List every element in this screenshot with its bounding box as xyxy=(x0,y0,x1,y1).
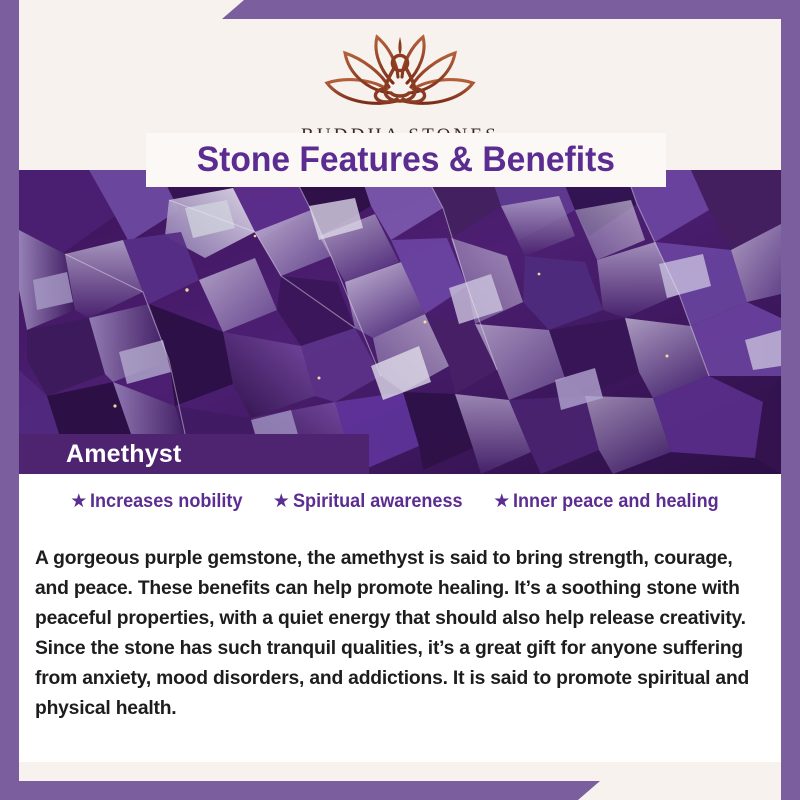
lotus-meditation-figure-icon xyxy=(311,27,489,123)
stone-info-card: BUDDHA STONES xyxy=(0,0,800,800)
brand-logo: BUDDHA STONES xyxy=(301,27,499,147)
stone-hero-image: Amethyst xyxy=(19,170,781,474)
frame-border-top xyxy=(222,0,800,19)
stone-name-label: Amethyst xyxy=(19,440,182,469)
benefit-item-1: ★ Spiritual awareness xyxy=(273,491,472,513)
stone-name-banner: Amethyst xyxy=(19,434,369,474)
section-title-band: Stone Features & Benefits xyxy=(146,133,666,187)
amethyst-crystal-texture xyxy=(19,170,781,474)
star-icon: ★ xyxy=(273,492,290,511)
benefit-item-0: ★ Increases nobility xyxy=(70,491,251,513)
benefit-label: Inner peace and healing xyxy=(513,491,719,513)
benefits-list: ★ Increases nobility ★ Spiritual awarene… xyxy=(19,474,781,519)
stone-body: ★ Increases nobility ★ Spiritual awarene… xyxy=(19,474,781,762)
frame-border-right xyxy=(781,0,800,800)
benefit-item-2: ★ Inner peace and healing xyxy=(493,491,730,513)
benefit-label: Increases nobility xyxy=(90,491,242,513)
frame-border-bottom xyxy=(0,781,600,800)
page-title: Stone Features & Benefits xyxy=(197,140,615,180)
benefit-label: Spiritual awareness xyxy=(293,491,463,513)
stone-description: A gorgeous purple gemstone, the amethyst… xyxy=(19,538,781,724)
star-icon: ★ xyxy=(493,492,510,511)
frame-border-left xyxy=(0,0,19,800)
star-icon: ★ xyxy=(70,492,87,511)
